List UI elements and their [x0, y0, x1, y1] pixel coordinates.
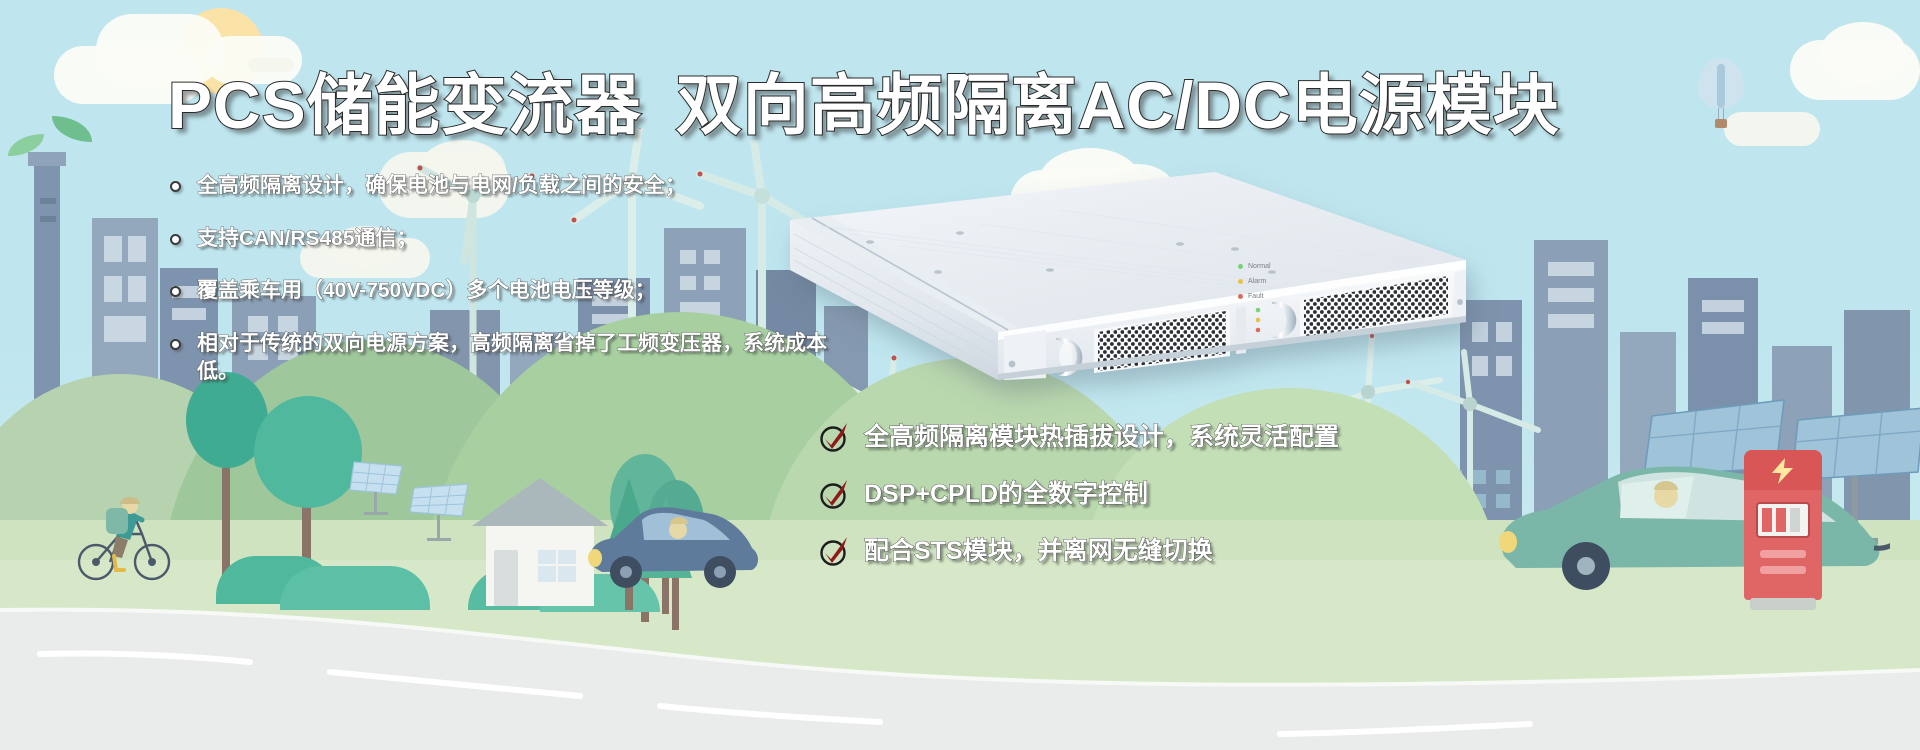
- car-ev-icon: [1490, 462, 1890, 592]
- ev-charger-icon: [1744, 450, 1822, 620]
- banner-root: Normal Alarm Fault PCS储能变流器双向高频隔离AC/DC电源…: [0, 0, 1920, 750]
- title-sub: 双向高频隔离AC/DC电源模块: [676, 68, 1560, 142]
- list-item: 覆盖乘车用（40V-750VDC）多个电池电压等级；: [170, 277, 910, 305]
- list-item: 配合STS模块，并离网无缝切换: [818, 534, 1458, 568]
- check-circle-icon: [818, 477, 852, 511]
- led-dot-fault: [1238, 294, 1243, 299]
- led-label-fault: Fault: [1248, 293, 1264, 300]
- led-fault: Fault: [1238, 293, 1271, 300]
- cyclist-icon: [76, 478, 186, 588]
- led-labels: Normal Alarm Fault: [1238, 263, 1271, 308]
- bullet-text: 覆盖乘车用（40V-750VDC）多个电池电压等级；: [197, 277, 656, 305]
- title-main: PCS储能变流器: [168, 68, 642, 142]
- led-label-alarm: Alarm: [1248, 278, 1266, 285]
- bullet-text: 全高频隔离设计，确保电池与电网/负载之间的安全；: [197, 172, 686, 200]
- led-label-normal: Normal: [1248, 263, 1271, 270]
- page-title: PCS储能变流器双向高频隔离AC/DC电源模块: [168, 64, 1328, 146]
- list-item: 相对于传统的双向电源方案，高频隔离省掉了工频变压器，系统成本低。: [170, 330, 860, 385]
- checklist-text: 全高频隔离模块热插拔设计，系统灵活配置: [864, 422, 1339, 452]
- list-item: 支持CAN/RS485通信；: [170, 225, 910, 253]
- led-normal: Normal: [1238, 263, 1271, 270]
- list-item: DSP+CPLD的全数字控制: [818, 477, 1458, 511]
- led-dot-normal: [1238, 264, 1243, 269]
- bullet-dot-icon: [170, 181, 181, 192]
- checklist: 全高频隔离模块热插拔设计，系统灵活配置 DSP+CPLD的全数字控制 配合STS…: [818, 420, 1458, 591]
- checklist-text: DSP+CPLD的全数字控制: [864, 479, 1148, 509]
- checklist-text: 配合STS模块，并离网无缝切换: [864, 536, 1213, 566]
- road: [0, 566, 1920, 750]
- banner-title-wrap: PCS储能变流器双向高频隔离AC/DC电源模块: [168, 64, 1328, 146]
- bullet-text: 相对于传统的双向电源方案，高频隔离省掉了工频变压器，系统成本低。: [197, 330, 860, 385]
- led-alarm: Alarm: [1238, 278, 1271, 285]
- bullet-dot-icon: [170, 339, 181, 350]
- feature-bullet-list: 全高频隔离设计，确保电池与电网/负载之间的安全； 支持CAN/RS485通信； …: [170, 172, 910, 411]
- check-circle-icon: [818, 420, 852, 454]
- list-item: 全高频隔离模块热插拔设计，系统灵活配置: [818, 420, 1458, 454]
- car-blue-icon: [580, 500, 770, 590]
- solar-panel-icon: [410, 482, 472, 546]
- check-circle-icon: [818, 534, 852, 568]
- solar-panel-icon: [348, 458, 408, 518]
- bullet-dot-icon: [170, 234, 181, 245]
- list-item: 全高频隔离设计，确保电池与电网/负载之间的安全；: [170, 172, 910, 200]
- led-dot-alarm: [1238, 279, 1243, 284]
- bullet-text: 支持CAN/RS485通信；: [197, 225, 418, 253]
- bullet-dot-icon: [170, 286, 181, 297]
